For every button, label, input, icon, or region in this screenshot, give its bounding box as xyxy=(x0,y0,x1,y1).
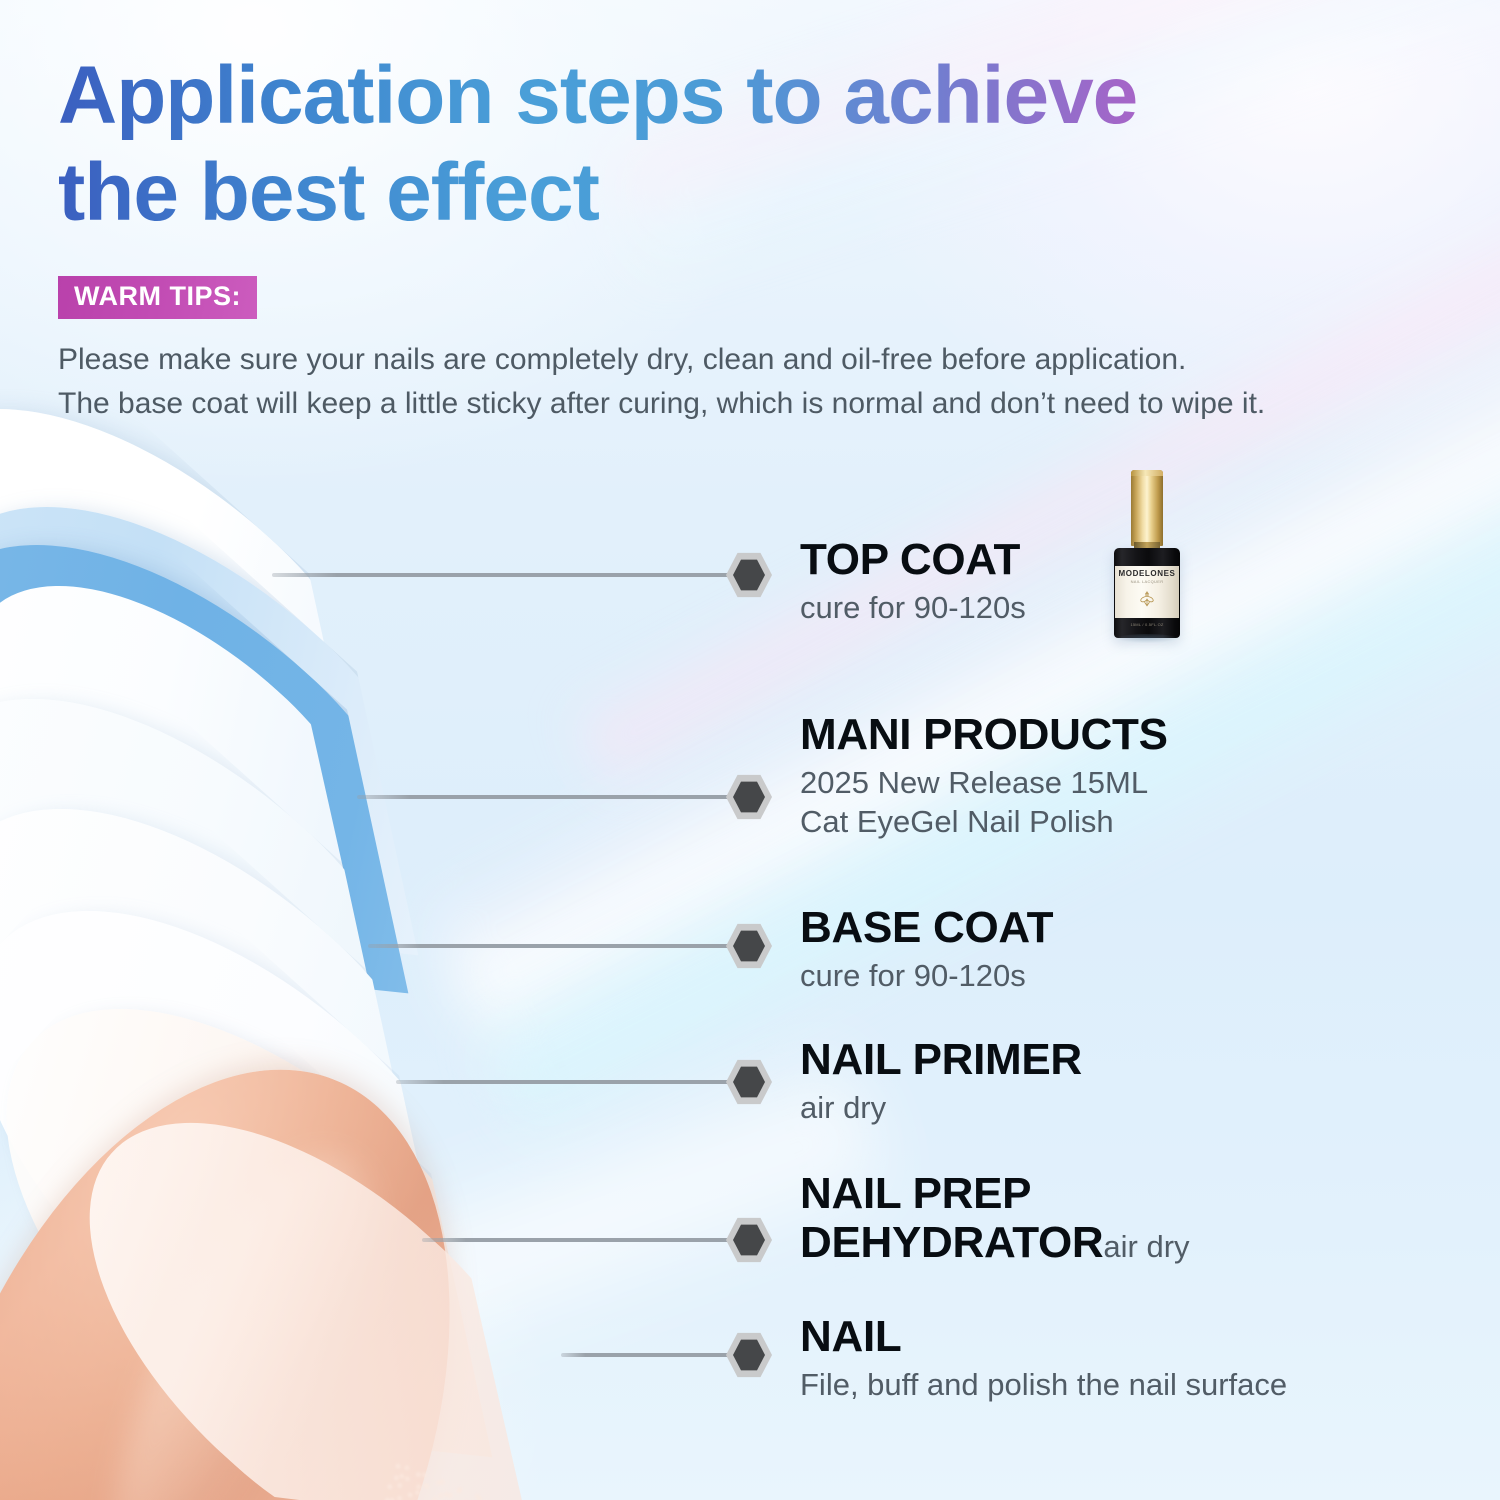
bottle-volume-text: 15ML / 0.5FL.OZ xyxy=(1115,622,1179,627)
step-title-line-2-text: DEHYDRATOR xyxy=(800,1218,1103,1267)
step-label-nail-prep-dehydrator: NAIL PREP DEHYDRATORair dry xyxy=(800,1169,1190,1268)
bee-crown-emblem-icon xyxy=(1136,588,1158,610)
hexagon-bullet-icon-nail-prep-dehydrator xyxy=(726,1217,772,1263)
bottle-tagline-text: NAIL LACQUER xyxy=(1115,579,1179,584)
warm-tips-line-1: Please make sure your nails are complete… xyxy=(58,338,1468,382)
hexagon-bullet-icon-nail-primer xyxy=(726,1059,772,1105)
leader-line-nail-primer xyxy=(396,1080,734,1084)
page-title-line-1: Application steps to achieve xyxy=(58,50,1137,141)
step-label-nail-primer: NAIL PRIMER air dry xyxy=(800,1037,1082,1127)
warm-tips-badge: WARM TIPS: xyxy=(58,276,257,319)
bottle-shadow xyxy=(1116,634,1178,643)
product-bottle-image: MODELONES NAIL LACQUER 15ML / 0.5FL.OZ xyxy=(1110,470,1184,638)
nail-layers-illustration xyxy=(0,380,700,1500)
step-subtitle: 2025 New Release 15ML xyxy=(800,763,1168,803)
step-label-top-coat: TOP COAT cure for 90-120s xyxy=(800,537,1026,627)
step-label-mani-products: MANI PRODUCTS 2025 New Release 15ML Cat … xyxy=(800,712,1168,842)
hexagon-bullet-icon-mani-products xyxy=(726,774,772,820)
step-label-nail: NAIL File, buff and polish the nail surf… xyxy=(800,1314,1287,1404)
step-title: NAIL xyxy=(800,1314,1287,1361)
step-subtitle: cure for 90-120s xyxy=(800,588,1026,628)
infographic-canvas: Application steps to achieve the best ef… xyxy=(0,0,1500,1500)
bottle-brand-text: MODELONES xyxy=(1115,569,1179,578)
step-title-line-2: DEHYDRATORair dry xyxy=(800,1218,1190,1267)
leader-line-base-coat xyxy=(368,944,734,948)
step-subtitle-inline: air dry xyxy=(1103,1229,1189,1264)
step-title: TOP COAT xyxy=(800,537,1026,584)
step-subtitle: cure for 90-120s xyxy=(800,956,1053,996)
step-title: BASE COAT xyxy=(800,905,1053,952)
step-title-line-1: NAIL PREP xyxy=(800,1169,1190,1218)
step-subtitle: air dry xyxy=(800,1088,1082,1128)
step-subtitle-secondary: Cat EyeGel Nail Polish xyxy=(800,802,1168,842)
bottle-cap-top xyxy=(1131,470,1163,476)
step-title: MANI PRODUCTS xyxy=(800,712,1168,759)
step-title: NAIL PRIMER xyxy=(800,1037,1082,1084)
hexagon-bullet-icon-top-coat xyxy=(726,552,772,598)
page-title-line-2: the best effect xyxy=(58,145,1458,242)
hexagon-bullet-icon-base-coat xyxy=(726,923,772,969)
leader-line-nail-prep-dehydrator xyxy=(422,1238,734,1242)
leader-line-top-coat xyxy=(272,573,734,577)
page-title: Application steps to achieve the best ef… xyxy=(58,48,1458,242)
step-label-base-coat: BASE COAT cure for 90-120s xyxy=(800,905,1053,995)
hexagon-bullet-icon-nail xyxy=(726,1332,772,1378)
leader-line-nail xyxy=(561,1353,734,1357)
bottle-cap xyxy=(1131,470,1163,546)
step-subtitle: File, buff and polish the nail surface xyxy=(800,1365,1287,1405)
leader-line-mani-products xyxy=(357,795,734,799)
